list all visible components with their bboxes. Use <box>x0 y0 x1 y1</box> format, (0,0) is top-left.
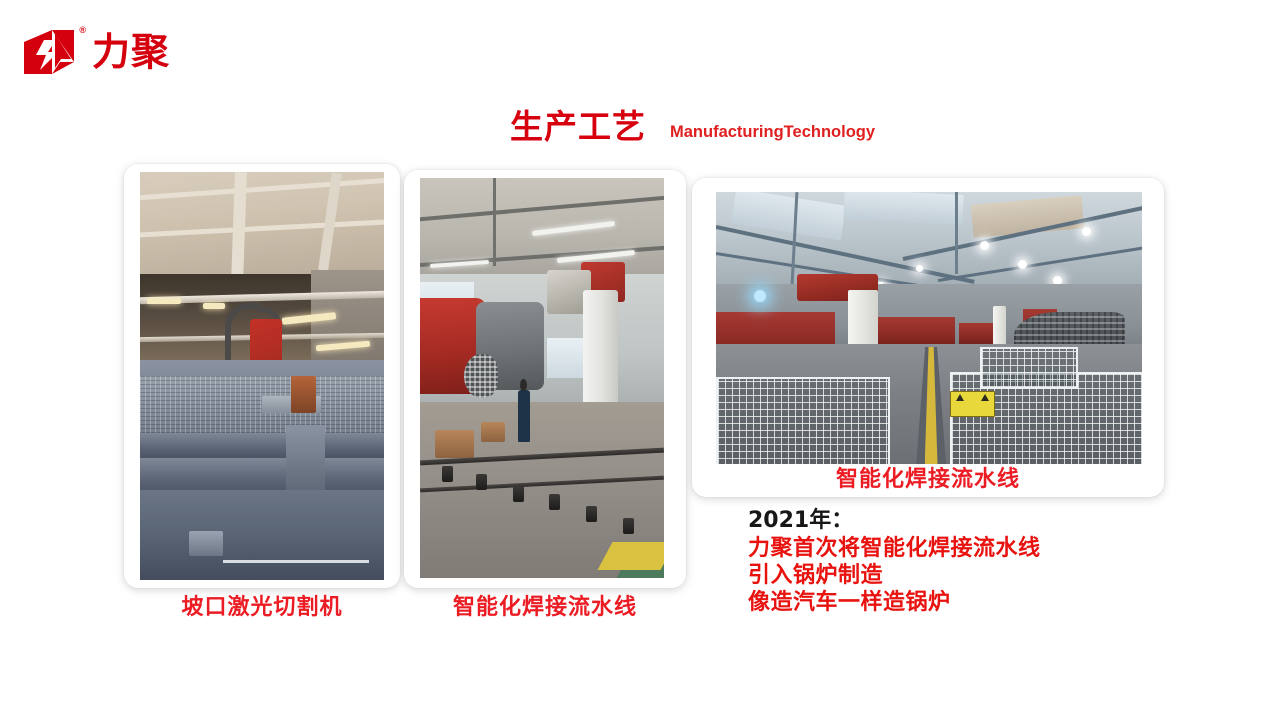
page-title: 生产工艺 ManufacturingTechnology <box>510 110 875 143</box>
callout-line-2: 引入锅炉制造 <box>748 562 1168 589</box>
crate <box>435 430 474 458</box>
workpiece <box>291 376 315 413</box>
rail-sleeper <box>623 518 634 534</box>
ceiling-light <box>980 241 989 250</box>
caption-welding-line-station: 智能化焊接流水线 <box>404 597 686 619</box>
page-title-cn: 生产工艺 <box>510 110 646 143</box>
ceiling-lamp <box>147 298 181 304</box>
ceiling-lamp <box>203 303 225 309</box>
crate <box>481 422 505 442</box>
brand-wordmark: 力聚 <box>92 33 170 71</box>
rail-sleeper <box>549 494 560 510</box>
floor-edge <box>223 560 369 563</box>
callout-line-1: 力聚首次将智能化焊接流水线 <box>748 535 1168 562</box>
page-title-en: ManufacturingTechnology <box>670 124 875 144</box>
cross-girder <box>140 433 384 457</box>
liju-lightning-logo-icon: ® <box>22 28 84 76</box>
access-panel <box>189 531 223 555</box>
callout-line-3: 像造汽车一样造锅炉 <box>748 589 1168 616</box>
lower-machine-body <box>140 490 384 580</box>
warning-sign <box>950 391 995 417</box>
rail-sleeper <box>586 506 597 522</box>
caption-welding-line-hall: 智能化焊接流水线 <box>692 469 1164 491</box>
tube-sheet-face <box>464 354 498 398</box>
photo-gouge-laser-cutter <box>140 172 384 580</box>
caption-gouge-laser-cutter: 坡口激光切割机 <box>124 597 400 619</box>
machine-guard-red <box>878 317 955 347</box>
photo-welding-line-hall <box>716 192 1142 464</box>
worker <box>518 390 530 442</box>
brand-logo: ® 力聚 <box>22 22 252 82</box>
safety-fence <box>716 377 890 464</box>
rail-sleeper <box>513 486 524 502</box>
roof-post <box>493 178 496 266</box>
roof-post <box>955 192 958 274</box>
photo-welding-line-station <box>420 178 664 578</box>
cross-girder <box>140 458 384 495</box>
rail-sleeper <box>476 474 487 490</box>
registered-trademark-icon: ® <box>79 26 86 35</box>
rail-sleeper <box>442 466 453 482</box>
callout-year: 2021年： <box>748 506 1168 535</box>
callout-text-block: 2021年： 力聚首次将智能化焊接流水线 引入锅炉制造 像造汽车一样造锅炉 <box>748 506 1168 616</box>
machine-carriage <box>286 425 325 494</box>
safety-fence <box>980 347 1078 389</box>
